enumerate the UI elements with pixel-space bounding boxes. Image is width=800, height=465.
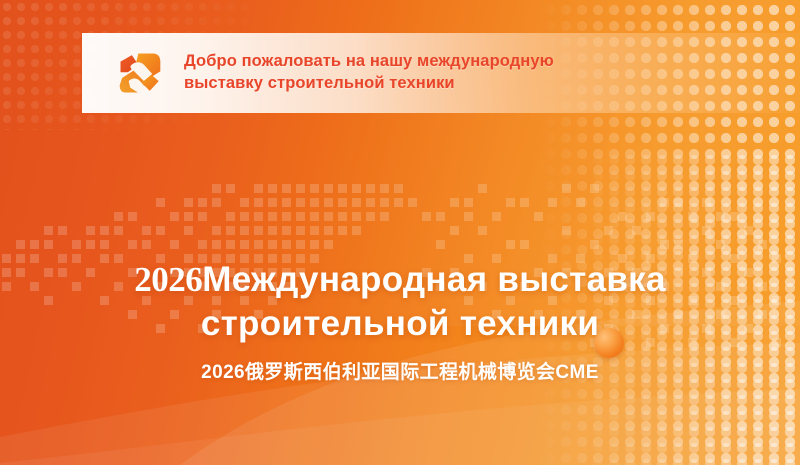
pixel-world-map (0, 178, 800, 368)
welcome-banner: Добро пожаловать на нашу международную в… (82, 33, 800, 113)
promo-poster: Добро пожаловать на нашу международную в… (0, 0, 800, 465)
halftone-dot-pattern-lower (540, 150, 800, 465)
glossy-sphere (594, 328, 624, 358)
headline-block: 2026Международная выставка строительной … (0, 258, 800, 384)
banner-line-1: Добро пожаловать на нашу международную (184, 51, 800, 73)
banner-text-block: Добро пожаловать на нашу международную в… (184, 51, 800, 95)
wave-ribbons (0, 205, 800, 465)
title-line-1: 2026Международная выставка (0, 258, 800, 302)
handshake-icon (114, 47, 166, 99)
banner-line-2: выставку строительной техники (184, 73, 800, 95)
title-line-1-rest: Международная выставка (202, 260, 666, 299)
headline-subtitle: 2026俄罗斯西伯利亚国际工程机械博览会CME (0, 357, 800, 384)
title-line-2: строительной техники (0, 302, 800, 346)
title-year: 2026 (134, 260, 202, 299)
